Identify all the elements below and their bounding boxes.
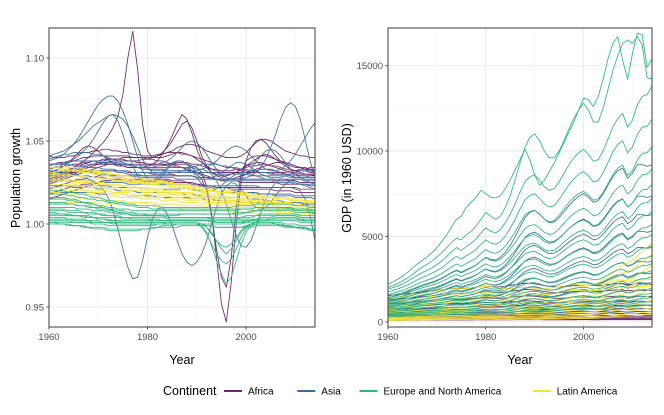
y-tick-label: 15000 [357,61,383,72]
right-panel-y-axis-title: GDP (in 1960 USD) [340,123,354,233]
legend-title: Continent [163,384,217,398]
legend-label-latin-america[interactable]: Latin America [557,387,618,398]
x-tick-label: 1980 [137,332,158,343]
right-panel-x-axis-title: Year [507,353,532,367]
legend-label-europe-and-north-america[interactable]: Europe and North America [384,387,502,398]
x-tick-label: 2000 [573,332,594,343]
y-tick-label: 5000 [362,232,383,243]
left-panel-x-axis-title: Year [169,353,194,367]
x-tick-label: 1960 [377,332,398,343]
x-tick-label: 2000 [235,332,256,343]
x-tick-label: 1960 [38,332,59,343]
y-tick-label: 0.95 [26,302,45,313]
population-gdp-figure: 0.951.001.051.10 196019802000 Population… [0,0,664,415]
left-panel-y-axis-title: Population growth [9,128,23,228]
y-tick-label: 1.05 [26,136,45,147]
legend-label-africa[interactable]: Africa [248,387,274,398]
x-tick-label: 1980 [475,332,496,343]
y-tick-label: 0 [378,317,383,328]
y-tick-label: 1.10 [26,53,45,64]
y-tick-label: 10000 [357,146,383,157]
left-panel: 0.951.001.051.10 196019802000 Population… [9,28,315,367]
y-tick-label: 1.00 [26,219,45,230]
legend-label-asia[interactable]: Asia [321,387,341,398]
